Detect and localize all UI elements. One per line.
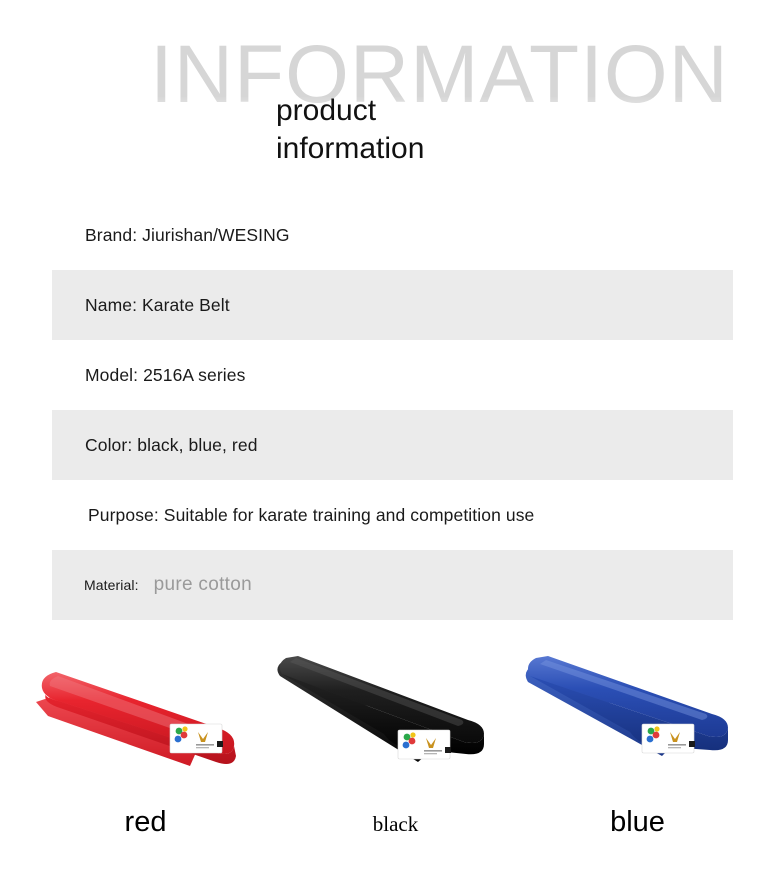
product-variant-blue[interactable]: blue [510,636,765,869]
belt-label-tag-red [170,724,223,753]
page-header: INFORMATION product information [0,0,780,190]
spec-row-brand: Brand: Jiurishan/WESING [0,200,780,270]
page-title-line-1: product [276,92,424,130]
watermark-title: INFORMATION [150,34,729,116]
spec-row-material: Material: pure cotton [0,550,780,620]
spec-row-model: Model: 2516A series [0,340,780,410]
page-title: product information [276,92,424,169]
spec-row-color: Color: black, blue, red [0,410,780,480]
spec-value-material: pure cotton [154,574,252,596]
product-caption-black: black [268,812,523,837]
karate-belt-red-illustration [18,636,273,796]
spec-material-group: Material: pure cotton [0,574,252,596]
specification-list: Brand: Jiurishan/WESING Name: Karate Bel… [0,200,780,620]
belt-image-red [18,636,273,796]
karate-belt-blue-illustration [510,636,765,796]
belt-image-blue [510,636,765,796]
product-gallery: red [0,636,780,869]
product-caption-blue: blue [510,806,765,839]
belt-image-black [268,636,523,796]
spec-value-name: Name: Karate Belt [0,295,230,316]
spec-row-purpose: Purpose: Suitable for karate training an… [0,480,780,550]
belt-label-tag-blue [642,724,695,753]
spec-row-name: Name: Karate Belt [0,270,780,340]
spec-value-model: Model: 2516A series [0,365,245,386]
spec-value-brand: Brand: Jiurishan/WESING [0,225,290,246]
product-caption-red: red [18,806,273,839]
page-title-line-2: information [276,130,424,168]
karate-belt-black-illustration [268,636,523,796]
spec-label-material: Material: [84,577,139,593]
belt-label-tag-black [398,730,451,759]
spec-value-purpose: Purpose: Suitable for karate training an… [0,505,534,526]
spec-value-color: Color: black, blue, red [0,435,258,456]
product-variant-black[interactable]: black [268,636,523,869]
product-variant-red[interactable]: red [18,636,273,869]
